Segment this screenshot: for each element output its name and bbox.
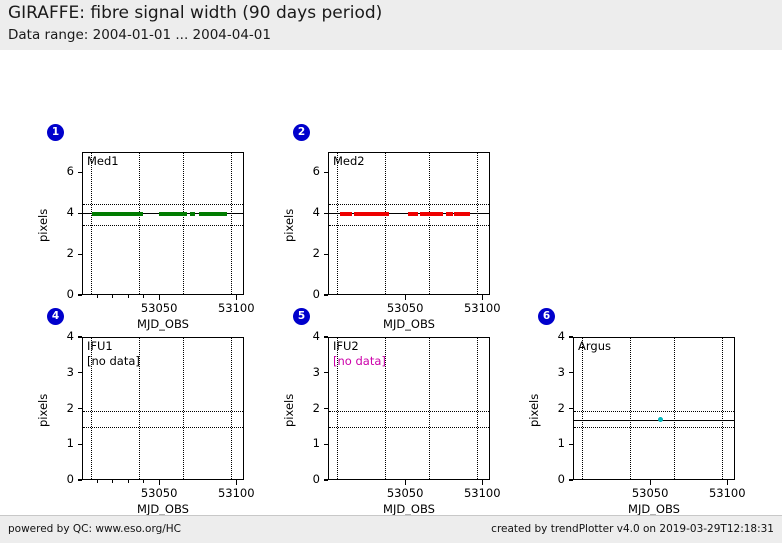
axis-tick-y [324,294,328,295]
plot-series-label: IFU1 [87,339,113,353]
axis-tick-x [727,480,728,485]
gridline-vertical [582,338,583,479]
axis-label-x: 53100 [211,486,261,500]
data-point [139,212,143,216]
axis-tick-x-minor [112,480,113,483]
axis-label-y: 4 [294,329,320,343]
axis-label-y: 0 [48,472,74,486]
axis-title-y: pixels [282,208,296,241]
axis-tick-y [78,336,82,337]
data-point [466,212,470,216]
axis-tick-y [569,336,573,337]
gridline-vertical [722,338,723,479]
axis-tick-y [569,444,573,445]
data-point [183,212,187,216]
axis-tick-x-minor [128,480,129,483]
reference-line [574,420,734,421]
axis-label-x: 53100 [211,301,261,315]
axis-tick-x [405,480,406,485]
axis-tick-y [569,372,573,373]
axis-tick-x [236,480,237,485]
axis-tick-x-minor [112,295,113,298]
axis-tick-y [78,408,82,409]
gridline-vertical [183,153,184,294]
footer-credit: powered by QC: www.eso.org/HC [8,523,181,535]
axis-tick-y [324,336,328,337]
axis-tick-y [78,444,82,445]
gridline-horizontal [83,225,243,226]
axis-title-y: pixels [36,208,50,241]
gridline-horizontal [574,411,734,412]
axis-label-y: 4 [48,205,74,219]
axis-tick-y [78,372,82,373]
axis-label-y: 6 [48,164,74,178]
data-point [385,212,389,216]
axis-tick-x-minor [97,480,98,483]
axis-tick-y [78,172,82,173]
gridline-vertical [91,153,92,294]
gridline-vertical [337,153,338,294]
axis-tick-x [482,295,483,300]
plot-canvas: 1Med10246pixels5305053100MJD_OBS2Med2024… [0,50,782,515]
axis-label-y: 1 [294,436,320,450]
page-subtitle: Data range: 2004-01-01 ... 2004-04-01 [8,27,271,43]
gridline-horizontal [329,204,489,205]
data-point [191,212,195,216]
plot-frame-med2: Med2 [328,152,490,295]
axis-label-y: 1 [539,436,565,450]
plot-series-label: IFU2 [333,339,359,353]
axis-label-y: 3 [294,365,320,379]
axis-tick-y [324,444,328,445]
gridline-vertical [139,153,140,294]
axis-label-y: 4 [48,329,74,343]
page-header: GIRAFFE: fibre signal width (90 days per… [0,0,782,50]
panel-badge-6: 6 [538,308,555,325]
axis-tick-y [78,294,82,295]
axis-title-x: MJD_OBS [328,317,490,331]
plot-frame-argus: Argus [573,337,735,480]
axis-label-x: 53100 [702,486,752,500]
gridline-horizontal [329,225,489,226]
axis-label-y: 1 [48,436,74,450]
axis-tick-y [324,372,328,373]
page-footer: powered by QC: www.eso.org/HC created by… [0,515,782,543]
axis-tick-x-minor [143,295,144,298]
data-point [348,212,352,216]
axis-label-y: 0 [294,287,320,301]
data-point [449,212,453,216]
axis-title-x: MJD_OBS [328,502,490,516]
panel-badge-5: 5 [293,308,310,325]
axis-label-y: 2 [48,246,74,260]
axis-label-y: 0 [48,287,74,301]
axis-label-y: 2 [48,401,74,415]
gridline-vertical [231,338,232,479]
axis-label-y: 0 [539,472,565,486]
gridline-vertical [477,338,478,479]
axis-tick-x [405,295,406,300]
gridline-horizontal [83,411,243,412]
axis-label-x: 53050 [134,301,184,315]
axis-tick-x-minor [128,295,129,298]
gridline-horizontal [329,427,489,428]
axis-label-y: 0 [294,472,320,486]
plot-frame-ifu1: IFU1[no data] [82,337,244,480]
axis-title-x: MJD_OBS [82,502,244,516]
data-point [439,212,443,216]
no-data-label: [no data] [87,354,140,368]
axis-title-y: pixels [36,393,50,426]
axis-label-x: 53050 [625,486,675,500]
gridline-vertical [183,338,184,479]
axis-label-y: 6 [294,164,320,178]
axis-tick-y [78,254,82,255]
data-point [223,212,227,216]
panel-badge-2: 2 [293,124,310,141]
axis-tick-y [569,408,573,409]
axis-tick-y [78,213,82,214]
gridline-horizontal [329,411,489,412]
plot-series-label: Argus [578,339,611,353]
footer-generator: created by trendPlotter v4.0 on 2019-03-… [491,523,774,535]
plot-frame-med1: Med1 [82,152,244,295]
panel-badge-1: 1 [47,124,64,141]
gridline-horizontal [83,204,243,205]
plot-frame-ifu2: IFU2[no data] [328,337,490,480]
gridline-vertical [630,338,631,479]
gridline-vertical [477,153,478,294]
axis-tick-y [324,172,328,173]
axis-tick-x-minor [97,295,98,298]
axis-label-y: 2 [539,401,565,415]
axis-label-x: 53050 [134,486,184,500]
gridline-horizontal [574,427,734,428]
axis-tick-x-minor [143,480,144,483]
axis-tick-y [324,254,328,255]
axis-label-x: 53100 [457,486,507,500]
axis-label-x: 53050 [380,301,430,315]
axis-tick-y [78,479,82,480]
axis-tick-y [324,408,328,409]
no-data-label: [no data] [333,354,386,368]
axis-title-y: pixels [282,393,296,426]
axis-tick-x [159,480,160,485]
gridline-horizontal [83,427,243,428]
plot-series-label: Med2 [333,154,365,168]
axis-tick-x [650,480,651,485]
axis-label-y: 3 [539,365,565,379]
panel-badge-4: 4 [47,308,64,325]
data-point [658,417,663,422]
axis-title-y: pixels [527,393,541,426]
axis-label-x: 53050 [380,486,430,500]
axis-tick-x [482,480,483,485]
axis-tick-y [324,213,328,214]
axis-tick-x [236,295,237,300]
axis-tick-y [324,479,328,480]
gridline-vertical [385,153,386,294]
axis-label-x: 53100 [457,301,507,315]
axis-label-y: 2 [294,401,320,415]
gridline-vertical [429,153,430,294]
gridline-vertical [674,338,675,479]
axis-tick-y [569,479,573,480]
axis-label-y: 3 [48,365,74,379]
data-point [414,212,418,216]
axis-label-y: 2 [294,246,320,260]
axis-tick-x [159,295,160,300]
axis-label-y: 4 [294,205,320,219]
axis-label-y: 4 [539,329,565,343]
plot-series-label: Med1 [87,154,119,168]
page-title: GIRAFFE: fibre signal width (90 days per… [8,3,382,23]
axis-title-x: MJD_OBS [573,502,735,516]
gridline-vertical [231,153,232,294]
gridline-vertical [429,338,430,479]
axis-title-x: MJD_OBS [82,317,244,331]
